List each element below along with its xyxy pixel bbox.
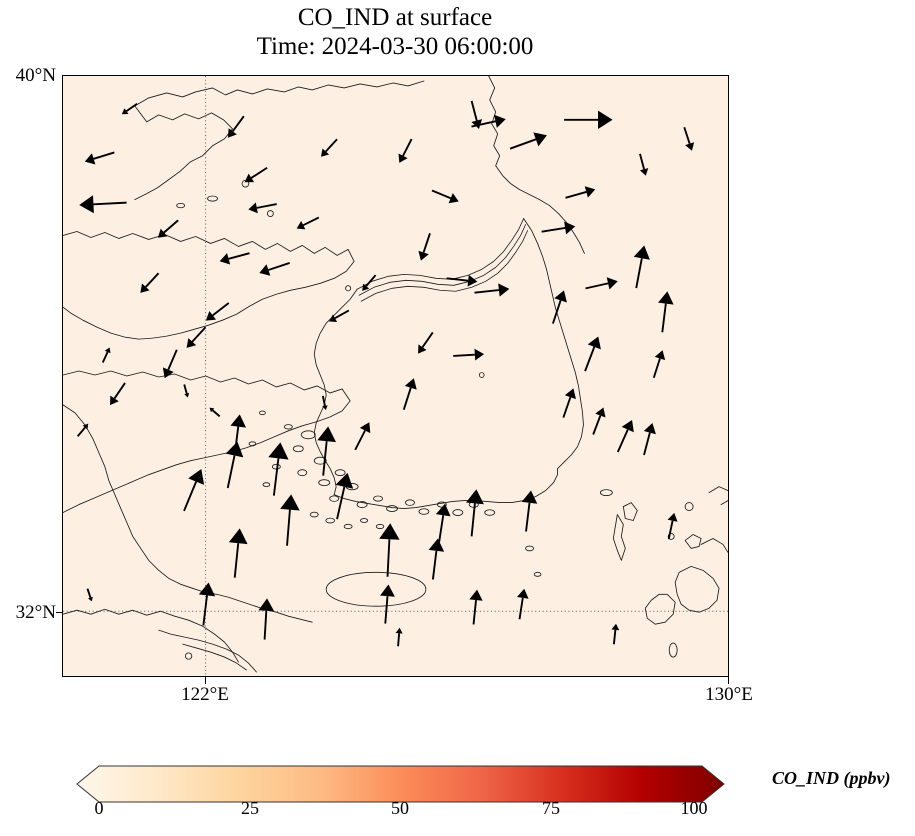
map-graphics	[63, 76, 728, 676]
wind-vector-head	[280, 494, 300, 510]
wind-vector-shaft	[432, 191, 451, 199]
wind-vector-shaft	[565, 192, 586, 198]
wind-vector-head	[471, 119, 482, 129]
wind-vector-shaft	[323, 396, 325, 406]
wind-vector-shaft	[184, 385, 187, 394]
wind-vector-shaft	[618, 430, 628, 452]
wind-vector-shaft	[433, 551, 436, 580]
wind-vector-head	[474, 349, 484, 361]
figure-title: CO_IND at surface Time: 2024-03-30 06:00…	[0, 4, 790, 61]
xtick-mark-122e	[205, 677, 206, 684]
wind-vector-shaft	[164, 220, 178, 232]
wind-vector-shaft	[146, 273, 159, 287]
wind-vector-shaft	[403, 139, 412, 156]
wind-vector-head	[498, 283, 509, 296]
wind-vector-shaft	[439, 515, 443, 542]
jeju-island	[326, 572, 426, 606]
wind-vector-shaft	[422, 332, 432, 347]
wind-vector-shaft	[662, 304, 666, 333]
colorbar-tick-50: 50	[365, 798, 435, 819]
wind-vector-shaft	[257, 204, 277, 208]
wind-vector-head	[494, 115, 506, 128]
wind-vector-shaft	[287, 510, 290, 546]
wind-vector-head	[469, 590, 482, 601]
wind-vector-shaft	[640, 154, 644, 169]
wind-vector-shaft	[388, 539, 390, 576]
wind-vector-shaft	[103, 352, 108, 363]
wind-vector-shaft	[526, 503, 529, 532]
wind-vector-head	[229, 528, 248, 544]
wind-vector-shaft	[265, 611, 267, 640]
wind-vector-head	[668, 513, 678, 522]
wind-vector-shaft	[385, 596, 387, 623]
wind-vector-shaft	[542, 228, 566, 232]
wind-vector-shaft	[424, 233, 430, 252]
wind-vector-head	[206, 311, 216, 321]
wind-vector-shaft	[474, 600, 476, 624]
wind-vector-head	[658, 291, 674, 304]
wind-vector-shaft	[235, 543, 238, 577]
wind-vector-shaft	[326, 139, 337, 151]
xtick-label-122e: 122°E	[150, 684, 260, 706]
wind-vector-shaft	[475, 290, 499, 293]
wind-vector-shaft	[355, 430, 365, 449]
wind-vector-head	[317, 426, 336, 442]
wind-vector-head	[607, 277, 618, 289]
wind-vector-shaft	[228, 456, 235, 488]
wind-vector-shaft	[636, 258, 642, 288]
wind-vector-shaft	[213, 303, 229, 315]
wind-vector-shaft	[184, 482, 196, 511]
wind-vector-head	[611, 624, 619, 631]
wind-vector-shaft	[213, 410, 220, 416]
ytick-mark-32n	[56, 612, 63, 613]
wind-vector-shaft	[303, 218, 319, 226]
wind-vector-shaft	[93, 203, 126, 205]
colorbar-tick-25: 25	[215, 798, 285, 819]
wind-vector-shaft	[337, 487, 344, 519]
wind-vector-head	[380, 584, 395, 596]
wind-vector-shaft	[472, 503, 475, 536]
wind-vector-shaft	[87, 589, 90, 598]
wind-vector-head	[230, 414, 246, 427]
xtick-label-130e: 130°E	[674, 684, 784, 706]
wind-vector-head	[517, 589, 529, 599]
map-plot-area	[62, 75, 729, 677]
wind-vector-head	[268, 442, 288, 459]
xtick-mark-130e	[728, 677, 729, 684]
ytick-label-32n: 32°N	[0, 602, 56, 624]
colorbar-tick-100: 100	[659, 798, 729, 819]
wind-vector-shaft	[520, 598, 523, 619]
wind-vector-shaft	[472, 101, 477, 121]
wind-vector-shaft	[233, 116, 244, 131]
title-line-time: Time: 2024-03-30 06:00:00	[0, 33, 790, 62]
coastlines	[63, 76, 728, 672]
wind-vector-head	[598, 111, 613, 129]
wind-vector-shaft	[669, 521, 673, 539]
wind-vector-head	[644, 423, 656, 434]
wind-vector-head	[429, 539, 445, 552]
wind-vector-shaft	[563, 397, 570, 417]
wind-vector-shaft	[251, 168, 267, 178]
wind-vector-shaft	[268, 263, 289, 270]
wind-vector-shaft	[585, 347, 594, 371]
wind-vector-head	[466, 489, 484, 504]
wind-vector-head	[379, 523, 399, 540]
wind-vector-shaft	[398, 633, 399, 646]
wind-vector-head	[79, 195, 94, 213]
wind-vector-shaft	[593, 416, 600, 435]
wind-vector-head	[634, 246, 650, 260]
wind-vector-head	[436, 504, 451, 517]
wind-vector-shaft	[335, 310, 349, 318]
wind-vector-shaft	[453, 355, 475, 356]
wind-vector-shaft	[404, 388, 411, 410]
wind-vector-shaft	[447, 278, 469, 280]
wind-vector-shaft	[510, 139, 536, 148]
title-line-variable: CO_IND at surface	[0, 4, 790, 33]
wind-vector-shaft	[168, 350, 177, 370]
figure-canvas: CO_IND at surface Time: 2024-03-30 06:00…	[0, 0, 915, 836]
wind-vector-shaft	[684, 127, 689, 143]
wind-vector-head	[228, 128, 237, 137]
colorbar: 0 25 50 75 100 CO_IND (ppbv)	[62, 762, 915, 836]
wind-vector-shaft	[229, 253, 250, 259]
wind-vector-shaft	[614, 630, 615, 644]
wind-vector-head	[640, 168, 648, 176]
wind-vector-head	[248, 202, 258, 213]
wind-vector-shaft	[586, 283, 609, 288]
colorbar-tick-75: 75	[516, 798, 586, 819]
wind-vector-shaft	[654, 358, 660, 377]
wind-vector-field	[78, 101, 694, 646]
wind-vector-head	[184, 393, 189, 398]
ytick-label-40n: 40°N	[0, 65, 56, 87]
wind-vector-head	[396, 628, 403, 634]
wind-vector-head	[199, 583, 215, 597]
wind-vector-head	[220, 253, 230, 264]
wind-vector-shaft	[644, 433, 650, 455]
wind-vector-head	[468, 275, 478, 287]
wind-vector-shaft	[115, 383, 126, 399]
wind-vector-head	[259, 598, 275, 611]
wind-vector-shaft	[78, 427, 85, 436]
colorbar-title: CO_IND (ppbv)	[772, 768, 915, 789]
wind-vector-head	[418, 344, 426, 353]
colorbar-tick-0: 0	[64, 798, 134, 819]
wind-vector-shaft	[94, 152, 115, 158]
